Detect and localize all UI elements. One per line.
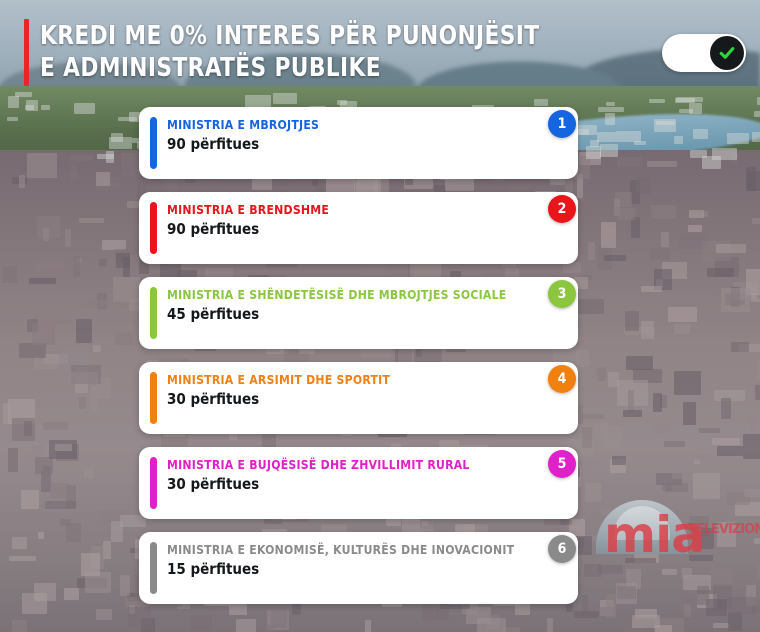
rank-number: 1 xyxy=(558,117,567,131)
rank-badge: 2 xyxy=(548,195,576,223)
card-text: MINISTRIA E ARSIMIT DHE SPORTIT30 përfit… xyxy=(167,372,524,408)
beneficiary-count: 90 përfitues xyxy=(167,135,524,153)
beneficiary-count: 15 përfitues xyxy=(167,560,524,578)
ministry-card[interactable]: MINISTRIA E EKONOMISË, KULTURËS DHE INOV… xyxy=(139,532,578,604)
ministry-card[interactable]: MINISTRIA E SHËNDETËSISË DHE MBROJTJES S… xyxy=(139,277,578,349)
rank-badge: 1 xyxy=(548,110,576,138)
rank-badge: 4 xyxy=(548,365,576,393)
rank-number: 5 xyxy=(558,457,567,471)
ministry-name: MINISTRIA E BUJQËSISË DHE ZHVILLIMIT RUR… xyxy=(167,457,513,472)
card-accent-bar xyxy=(150,457,157,509)
card-text: MINISTRIA E BUJQËSISË DHE ZHVILLIMIT RUR… xyxy=(167,457,524,493)
rank-badge: 6 xyxy=(548,535,576,563)
ministry-name: MINISTRIA E EKONOMISË, KULTURËS DHE INOV… xyxy=(167,542,513,557)
broadcast-graphic-screen: mia TELEVIZION KREDI ME 0% INTERES PËR P… xyxy=(0,0,760,632)
ministry-card[interactable]: MINISTRIA E ARSIMIT DHE SPORTIT30 përfit… xyxy=(139,362,578,434)
card-text: MINISTRIA E MBROJTJES90 përfitues xyxy=(167,117,524,153)
beneficiary-count: 45 përfitues xyxy=(167,305,524,323)
rank-number: 6 xyxy=(558,542,567,556)
card-accent-bar xyxy=(150,287,157,339)
beneficiary-count: 30 përfitues xyxy=(167,475,524,493)
rank-number: 4 xyxy=(558,372,567,386)
ministry-name: MINISTRIA E MBROJTJES xyxy=(167,117,513,132)
card-accent-bar xyxy=(150,202,157,254)
card-accent-bar xyxy=(150,117,157,169)
beneficiary-count: 90 përfitues xyxy=(167,220,524,238)
card-text: MINISTRIA E BRENDSHME90 përfitues xyxy=(167,202,524,238)
ministry-card[interactable]: MINISTRIA E MBROJTJES90 përfitues xyxy=(139,107,578,179)
rank-number: 2 xyxy=(558,202,567,216)
rank-number: 3 xyxy=(558,287,567,301)
card-accent-bar xyxy=(150,372,157,424)
card-text: MINISTRIA E SHËNDETËSISË DHE MBROJTJES S… xyxy=(167,287,524,323)
card-accent-bar xyxy=(150,542,157,594)
ministry-name: MINISTRIA E ARSIMIT DHE SPORTIT xyxy=(167,372,513,387)
rank-badge: 3 xyxy=(548,280,576,308)
ministry-card[interactable]: MINISTRIA E BRENDSHME90 përfitues xyxy=(139,192,578,264)
ministry-name: MINISTRIA E SHËNDETËSISË DHE MBROJTJES S… xyxy=(167,287,513,302)
ministry-name: MINISTRIA E BRENDSHME xyxy=(167,202,513,217)
rank-badge: 5 xyxy=(548,450,576,478)
ministry-card[interactable]: MINISTRIA E BUJQËSISË DHE ZHVILLIMIT RUR… xyxy=(139,447,578,519)
ministry-list: MINISTRIA E MBROJTJES90 përfitues1MINIST… xyxy=(0,0,760,632)
card-text: MINISTRIA E EKONOMISË, KULTURËS DHE INOV… xyxy=(167,542,524,578)
beneficiary-count: 30 përfitues xyxy=(167,390,524,408)
